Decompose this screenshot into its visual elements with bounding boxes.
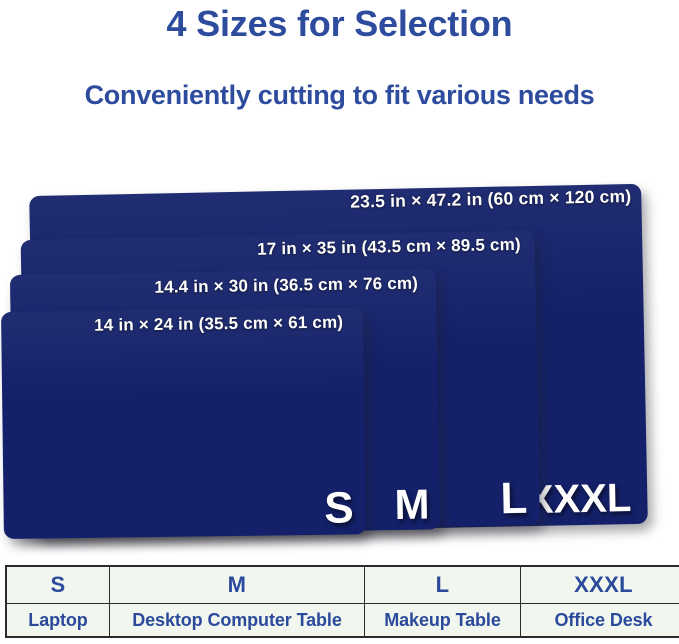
table-row-sizes: S M L XXXL xyxy=(6,566,679,604)
mat-dimension-label-s: 14 in × 24 in (35.5 cm × 61 cm) xyxy=(94,313,343,336)
table-cell-use-l: Makeup Table xyxy=(365,604,521,638)
table-row-uses: Laptop Desktop Computer Table Makeup Tab… xyxy=(6,604,679,638)
mat-dimension-label-m: 14.4 in × 30 in (36.5 cm × 76 cm) xyxy=(154,274,418,298)
mat-stack: 23.5 in × 47.2 in (60 cm × 120 cm) XXXL … xyxy=(0,0,679,560)
mat-size-letter-xxxl: XXXL xyxy=(526,478,631,520)
size-usage-table: S M L XXXL Laptop Desktop Computer Table… xyxy=(5,565,679,638)
mat-dimension-label-l: 17 in × 35 in (43.5 cm × 89.5 cm) xyxy=(257,235,521,260)
table-cell-use-xxxl: Office Desk xyxy=(521,604,679,638)
table-cell-use-s: Laptop xyxy=(6,604,110,638)
table-cell-size-s: S xyxy=(6,566,110,604)
mat-size-letter-s: S xyxy=(324,486,354,530)
table-cell-use-m: Desktop Computer Table xyxy=(110,604,365,638)
mat-size-letter-l: L xyxy=(500,477,528,521)
table-cell-size-m: M xyxy=(110,566,365,604)
mat-s: 14 in × 24 in (35.5 cm × 61 cm) S xyxy=(1,307,366,539)
mat-dimension-label-xxxl: 23.5 in × 47.2 in (60 cm × 120 cm) xyxy=(350,186,632,213)
table-cell-size-l: L xyxy=(365,566,521,604)
mat-size-letter-m: M xyxy=(394,483,430,526)
table-cell-size-xxxl: XXXL xyxy=(521,566,679,604)
